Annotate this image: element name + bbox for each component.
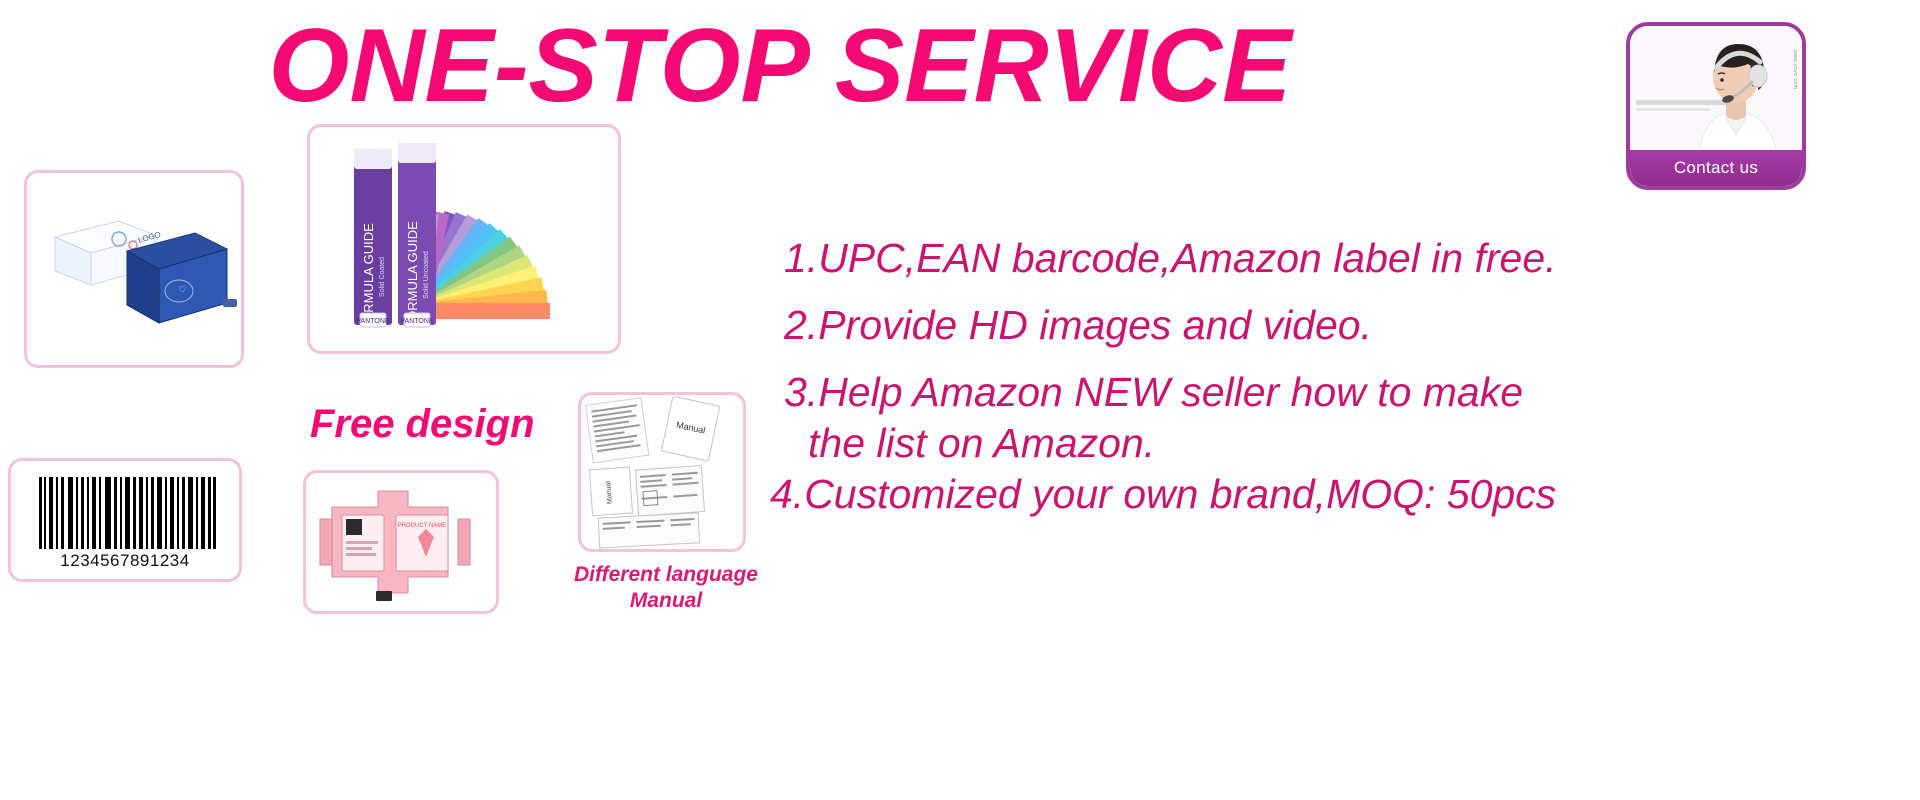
carton-dieline-image: PRODUCT NAME <box>306 473 496 611</box>
manual-caption-line2: Manual <box>630 589 702 612</box>
customer-service-agent-photo: www.yoyo.com <box>1630 26 1802 150</box>
contact-us-widget[interactable]: www.yoyo.com Contact us <box>1626 22 1806 190</box>
svg-text:PANTONE: PANTONE <box>400 318 434 325</box>
manual-photo: Manual Manual <box>578 392 746 552</box>
barcode-photo: 1234567891234 <box>8 458 242 582</box>
manual-caption-line1: Different language <box>574 563 758 586</box>
page-title: ONE-STOP SERVICE <box>0 8 1560 124</box>
instruction-manual-image: Manual Manual <box>581 395 743 549</box>
feature-line-5: 4.Customized your own brand,MOQ: 50pcs <box>770 474 1914 515</box>
feature-line-1: 1.UPC,EAN barcode,Amazon label in free. <box>784 238 1914 279</box>
gift-box-image: ♡ LOGO <box>27 173 241 365</box>
svg-text:PANTONE: PANTONE <box>356 318 390 325</box>
svg-text:PRODUCT NAME: PRODUCT NAME <box>398 523 447 529</box>
box-packaging-photo: ♡ LOGO <box>24 170 244 368</box>
pantone-fan-image: FORMULA GUIDE Solid Coated PANTONE FORMU… <box>310 127 618 351</box>
pantone-guide-photo: FORMULA GUIDE Solid Coated PANTONE FORMU… <box>307 124 621 354</box>
barcode-icon <box>39 477 217 549</box>
agent-with-headset-icon <box>1630 26 1802 150</box>
svg-text:Solid Uncoated: Solid Uncoated <box>423 251 430 299</box>
manual-caption: Different language Manual <box>560 562 772 613</box>
service-feature-list: 1.UPC,EAN barcode,Amazon label in free.2… <box>784 238 1914 515</box>
dieline-template-photo: PRODUCT NAME <box>303 470 499 614</box>
one-stop-service-banner: ONE-STOP SERVICE ♡ LOGO <box>0 0 1920 800</box>
svg-text:♡: ♡ <box>178 284 188 295</box>
feature-line-3: 3.Help Amazon NEW seller how to make <box>784 372 1914 413</box>
watermark-text: www.yoyo.com <box>1792 50 1798 89</box>
feature-line-2: 2.Provide HD images and video. <box>784 305 1914 346</box>
contact-us-button[interactable]: Contact us <box>1630 150 1802 186</box>
free-design-label: Free design <box>310 402 535 447</box>
barcode-number: 1234567891234 <box>11 551 239 571</box>
svg-text:Solid Coated: Solid Coated <box>379 257 386 297</box>
feature-line-4: the list on Amazon. <box>808 423 1914 464</box>
